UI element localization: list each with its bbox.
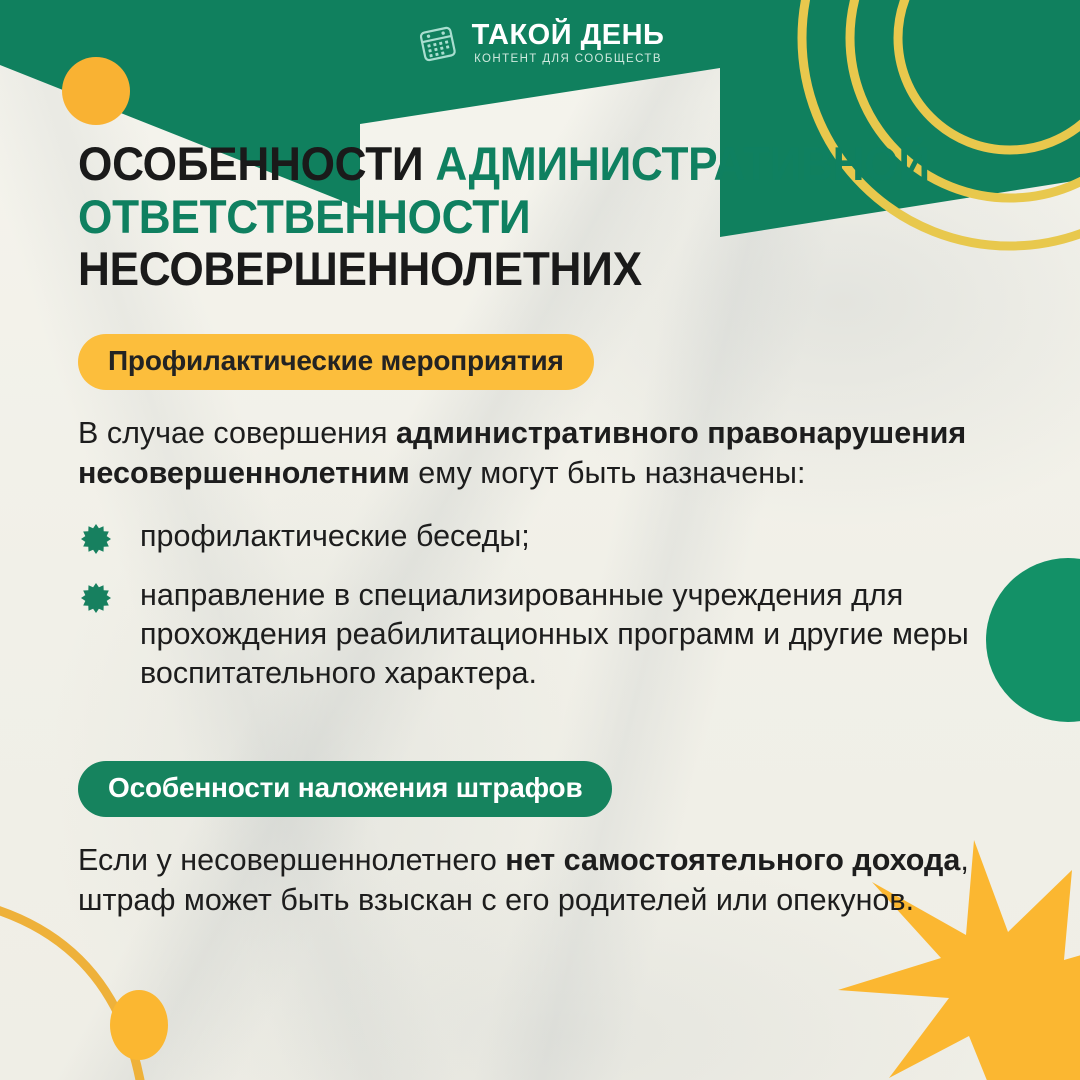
brand-subtitle: КОНТЕНТ ДЛЯ СООБЩЕСТВ bbox=[474, 53, 662, 65]
list-item-label: профилактические беседы; bbox=[140, 519, 530, 553]
section-fines: Особенности наложения штрафов Если у нес… bbox=[78, 761, 1018, 920]
headline-part-2: АДМИНИСТРАТИВНОЙ bbox=[435, 137, 929, 190]
section-prevention: Профилактические мероприятия В случае со… bbox=[78, 334, 1018, 693]
page-title: ОСОБЕННОСТИ АДМИНИСТРАТИВНОЙ ОТВЕТСТВЕНН… bbox=[78, 138, 962, 296]
prevention-measures-list: профилактические беседы; направление в с… bbox=[78, 517, 1018, 693]
starburst-bullet-icon bbox=[81, 583, 111, 613]
section-badge-fines: Особенности наложения штрафов bbox=[78, 761, 612, 817]
section-badge-prevention: Профилактические мероприятия bbox=[78, 334, 594, 390]
section-intro-fines: Если у несовершеннолетнего нет самостоят… bbox=[78, 841, 983, 920]
fines-text-a: Если у несовершеннолетнего bbox=[78, 843, 505, 877]
section-intro-prevention: В случае совершения административного пр… bbox=[78, 414, 983, 493]
poster-canvas: ТАКОЙ ДЕНЬ КОНТЕНТ ДЛЯ СООБЩЕСТВ ОСОБЕНН… bbox=[0, 0, 1080, 1080]
intro-text-c: ему могут быть назначены: bbox=[410, 456, 806, 490]
headline-part-1: ОСОБЕННОСТИ bbox=[78, 137, 435, 190]
list-item: направление в специализированные учрежде… bbox=[78, 576, 1018, 693]
headline-part-3: ОТВЕТСТВЕННОСТИ bbox=[78, 190, 530, 243]
calendar-icon bbox=[416, 21, 460, 65]
list-item: профилактические беседы; bbox=[78, 517, 1018, 556]
brand-title: ТАКОЙ ДЕНЬ bbox=[472, 20, 665, 50]
starburst-bullet-icon bbox=[81, 524, 111, 554]
orange-circle-decoration bbox=[62, 57, 130, 125]
orange-arc-dot bbox=[110, 990, 168, 1060]
brand-text: ТАКОЙ ДЕНЬ КОНТЕНТ ДЛЯ СООБЩЕСТВ bbox=[472, 20, 665, 65]
main-content: ОСОБЕННОСТИ АДМИНИСТРАТИВНОЙ ОТВЕТСТВЕНН… bbox=[78, 138, 1018, 921]
intro-text-a: В случае совершения bbox=[78, 416, 396, 450]
headline-part-4: НЕСОВЕРШЕННОЛЕТНИХ bbox=[78, 242, 642, 295]
brand-logo: ТАКОЙ ДЕНЬ КОНТЕНТ ДЛЯ СООБЩЕСТВ bbox=[416, 20, 665, 65]
list-item-label: направление в специализированные учрежде… bbox=[140, 578, 969, 690]
fines-text-bold: нет самостоятельного дохода bbox=[505, 843, 960, 877]
